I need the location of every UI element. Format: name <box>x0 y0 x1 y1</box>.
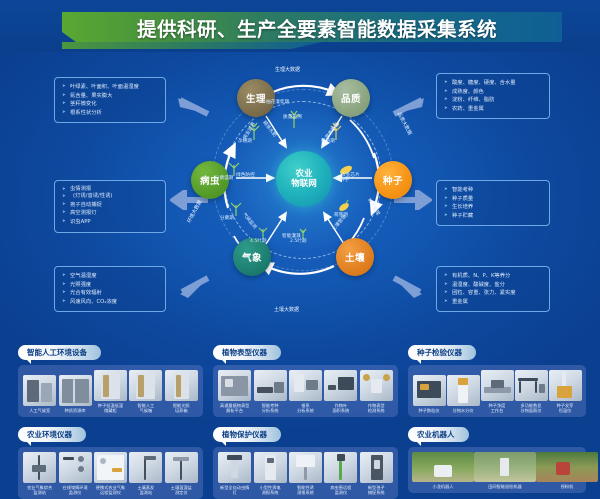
arc-label-green-control: 绿色防控 <box>236 172 255 178</box>
product-caption: 种子数粒仪 <box>413 408 446 413</box>
product-caption: 人工气候室 <box>23 408 56 413</box>
section-title: 植物表型仪器 <box>213 345 281 360</box>
product-thumbnail <box>536 452 598 482</box>
product-grid: 高通量植物表型 解析平台 智能考种 分析系统 根系 分析系统 作物叶 面积系统 … <box>213 365 398 417</box>
product-thumbnail <box>254 370 287 401</box>
list-item: 淀粉、纤维、脂肪 <box>444 96 543 105</box>
list-item: 温湿度、酸碱度、盐分 <box>444 281 543 290</box>
product-thumbnail <box>23 375 56 406</box>
list-item: 种子贮藏 <box>444 212 543 221</box>
product-item[interactable]: 农业气象综合 监测站 <box>23 452 56 495</box>
list-item: 孢子自动捕捉 <box>62 201 159 210</box>
product-item[interactable]: 病虫害远程 监测仪 <box>324 452 357 495</box>
poster-root: 提供科研、生产全要素智能数据采集系统 叶绿素、叶面积、叶面温湿度 氮含量、果实膨… <box>0 0 600 497</box>
core-node-agri-iot[interactable]: 农业 物联网 <box>276 151 332 207</box>
product-item[interactable]: 小龙机器人 <box>412 452 474 489</box>
product-thumbnail <box>129 370 162 401</box>
info-box-seed: 智能考种 种子质量 生长培养 种子贮藏 <box>436 180 550 226</box>
header: 提供科研、生产全要素智能数据采集系统 <box>0 0 600 52</box>
rice-plant-icon <box>228 198 244 216</box>
product-grid: 种子数粒仪 谷物水分仪 种子净度 工作台 多功能数显 谷物面筋仪 种子发芽 恒温… <box>408 365 586 417</box>
core-label-line1: 农业 <box>295 169 312 179</box>
product-caption: 病虫害远程 监测仪 <box>324 485 357 495</box>
product-caption: 智能人工 气候箱 <box>129 403 162 413</box>
list-item: 智能考种 <box>444 186 543 195</box>
list-item: 重金属 <box>444 298 543 307</box>
list-item: 生长培养 <box>444 203 543 212</box>
section-title: 智能人工环境设备 <box>18 345 101 360</box>
product-thumbnail <box>165 452 198 483</box>
product-item[interactable]: 多功能数显 谷物面筋仪 <box>515 370 548 413</box>
product-item[interactable]: 人工气候室 <box>23 375 56 413</box>
product-grid: 小龙机器人 田间智能巡检机器 授粉机 <box>408 447 586 493</box>
product-caption: 智能考种 分析系统 <box>254 403 287 413</box>
list-item: 风速风向、CO₂浓度 <box>62 298 159 307</box>
product-caption: 多功能数显 谷物面筋仪 <box>515 403 548 413</box>
product-thumbnail <box>218 452 251 483</box>
product-item[interactable]: 智能人工 气候箱 <box>129 370 162 413</box>
product-item[interactable]: 智能性诱 测报系统 <box>289 452 322 495</box>
product-item[interactable]: 智能光照 培养箱 <box>165 370 198 413</box>
product-caption: 土壤蒸发 监测站 <box>129 485 162 495</box>
product-thumbnail <box>59 452 92 483</box>
section-title: 农业机器人 <box>408 427 469 442</box>
flow-label-bottom: 土壤大数据 <box>274 306 299 313</box>
product-thumbnail <box>360 452 393 483</box>
sprout-icon <box>336 198 352 214</box>
product-caption: 智能光照 培养箱 <box>165 403 198 413</box>
stage-label-heading: 抽花灌浆期 <box>266 100 289 106</box>
product-item[interactable]: 便携式农业气象 远程监测仪 <box>94 452 127 495</box>
product-caption: 智能性诱 测报系统 <box>289 485 322 495</box>
product-item[interactable]: 土壤蒸发 监测站 <box>129 452 162 495</box>
flow-label-top: 生理大数据 <box>275 66 300 73</box>
product-item[interactable]: 田间智能巡检机器 <box>474 452 536 489</box>
info-box-pest: 虫情测报 (灯诱/音诱/性诱) 孢子自动捕捉 高空测报灯 识虫APP <box>54 180 166 233</box>
product-item[interactable]: 土壤温湿盐 测定仪 <box>165 452 198 495</box>
product-thumbnail <box>413 375 446 406</box>
product-item[interactable]: 种子净度 工作台 <box>481 370 514 413</box>
list-item: 空气温湿度 <box>62 272 159 281</box>
product-item[interactable]: 在线墒情环境 监测仪 <box>59 452 92 495</box>
product-caption: 种子净度 工作台 <box>481 403 514 413</box>
info-box-physiology: 叶绿素、叶面积、叶面温湿度 氮含量、果实膨大 茎秆微变化 根系性状分析 <box>54 77 166 123</box>
product-caption: 小型性诱电 测报系统 <box>254 485 287 495</box>
product-thumbnail <box>360 370 393 401</box>
stage-label-peak-till: 分蘖盛期 <box>215 176 233 182</box>
product-item[interactable]: 授粉机 <box>536 452 598 489</box>
product-item[interactable]: 种子数粒仪 <box>413 375 446 413</box>
center-diagram: 农业 物联网 生理 品质 种子 土壤 气象 病虫 生理大数据 土壤大数据 环境大… <box>178 58 428 328</box>
product-caption: 新型全自动虫情灯 <box>218 485 251 495</box>
stage-label-germination: 萌芽期 <box>334 213 348 219</box>
product-item[interactable]: 新型孢子 捕捉系统 <box>360 452 393 495</box>
product-thumbnail <box>481 370 514 401</box>
list-item: 识虫APP <box>62 218 159 227</box>
product-caption: 新型孢子 捕捉系统 <box>360 485 393 495</box>
product-thumbnail <box>129 452 162 483</box>
product-caption: 根系 分析系统 <box>289 403 322 413</box>
section-agricultural-robots: 农业机器人 小龙机器人 田间智能巡检机器 授粉机 <box>408 422 586 493</box>
product-item[interactable]: 种子发芽 恒温仪 <box>549 370 582 413</box>
product-thumbnail <box>549 370 582 401</box>
list-item: 高空测报灯 <box>62 209 159 218</box>
list-item: 根系性状分析 <box>62 109 159 118</box>
product-item[interactable]: 新型全自动虫情灯 <box>218 452 251 495</box>
product-caption: 种子发芽 恒温仪 <box>549 403 582 413</box>
product-caption: 小龙机器人 <box>412 484 474 489</box>
product-item[interactable]: 作物叶 面积系统 <box>324 370 357 413</box>
product-caption: 谷物水分仪 <box>447 408 480 413</box>
product-caption: 授粉机 <box>536 484 598 489</box>
product-thumbnail <box>94 370 127 401</box>
product-thumbnail <box>515 370 548 401</box>
product-item[interactable]: 谷物水分仪 <box>447 375 480 413</box>
list-item: 团粒、容重、张力、紧实度 <box>444 289 543 298</box>
node-quality[interactable]: 品质 <box>332 79 370 117</box>
list-item-sub: (灯诱/音诱/性诱) <box>62 193 159 200</box>
section-title: 种子检验仪器 <box>408 345 476 360</box>
product-item[interactable]: 根系 分析系统 <box>289 370 322 413</box>
node-soil[interactable]: 土壤 <box>336 238 374 276</box>
product-thumbnail <box>218 370 251 401</box>
stage-label-wax-ripe: 蜡熟期 <box>321 139 335 145</box>
section-agricultural-environment-instruments: 农业环境仪器 农业气象综合 监测站 在线墒情环境 监测仪 便携式农业气象 远程监… <box>18 422 203 499</box>
product-thumbnail <box>165 370 198 401</box>
node-physiology[interactable]: 生理 <box>237 79 275 117</box>
info-box-soil: 有机质、N、P、K等养分 温湿度、酸碱度、盐分 团粒、容重、张力、紧实度 重金属 <box>436 266 550 312</box>
product-thumbnail <box>324 452 357 483</box>
rice-plant-icon <box>256 223 270 239</box>
list-item: 氮含量、果实膨大 <box>62 92 159 101</box>
section-seed-inspection-instruments: 种子检验仪器 种子数粒仪 谷物水分仪 种子净度 工作台 多功能数显 谷物面筋仪 … <box>408 340 586 417</box>
section-title: 农业环境仪器 <box>18 427 86 442</box>
product-thumbnail <box>59 375 92 406</box>
product-item[interactable]: 种质资源库 <box>59 375 92 413</box>
product-caption: 在线墒情环境 监测仪 <box>59 485 92 495</box>
product-caption: 种子低温低湿 储藏柜 <box>94 403 127 413</box>
product-caption: 便携式农业气象 远程监测仪 <box>94 485 127 495</box>
page-title: 提供科研、生产全要素智能数据采集系统 <box>62 10 572 44</box>
product-thumbnail <box>474 452 536 482</box>
product-item[interactable]: 种子低温低湿 储藏柜 <box>94 370 127 413</box>
product-thumbnail <box>289 370 322 401</box>
product-caption: 农业气象综合 监测站 <box>23 485 56 495</box>
arc-label-quality-trace: 质量追溯 <box>283 114 302 120</box>
list-item: 种子质量 <box>444 195 543 204</box>
product-caption: 作物表型 检测系统 <box>360 403 393 413</box>
list-item: 农药、重金属 <box>444 105 543 114</box>
product-thumbnail <box>254 452 287 483</box>
node-seed[interactable]: 种子 <box>374 161 412 199</box>
product-grid: 人工气候室 种质资源库 种子低温低湿 储藏柜 智能人工 气候箱 智能光照 培养箱 <box>18 365 203 417</box>
section-smart-environment-equipment: 智能人工环境设备 人工气候室 种质资源库 种子低温低湿 储藏柜 智能人工 气候箱… <box>18 340 203 417</box>
product-caption: 作物叶 面积系统 <box>324 403 357 413</box>
stage-label-leaf25: 2.5叶期 <box>290 239 307 245</box>
list-item: 叶绿素、叶面积、叶面温湿度 <box>62 83 159 92</box>
product-item[interactable]: 高通量植物表型 解析平台 <box>218 370 251 413</box>
list-item: 酸度、糖度、硬度、含水量 <box>444 79 543 88</box>
product-caption: 田间智能巡检机器 <box>474 484 536 489</box>
section-title: 植物保护仪器 <box>213 427 281 442</box>
product-grid: 新型全自动虫情灯 小型性诱电 测报系统 智能性诱 测报系统 病虫害远程 监测仪 … <box>213 447 398 499</box>
product-item[interactable]: 智能考种 分析系统 <box>254 370 287 413</box>
info-box-weather: 空气温湿度 光照强度 光合有效辐射 风速风向、CO₂浓度 <box>54 266 166 312</box>
section-plant-protection-instruments: 植物保护仪器 新型全自动虫情灯 小型性诱电 测报系统 智能性诱 测报系统 病虫害… <box>213 422 398 499</box>
product-caption: 高通量植物表型 解析平台 <box>218 403 251 413</box>
stage-label-seed: 种子 <box>340 178 349 184</box>
product-thumbnail <box>447 375 480 406</box>
stage-label-leaf45: 4.5叶期 <box>250 239 267 245</box>
list-item: 茎秆微变化 <box>62 100 159 109</box>
section-plant-phenotype-instruments: 植物表型仪器 高通量植物表型 解析平台 智能考种 分析系统 根系 分析系统 作物… <box>213 340 398 417</box>
product-caption: 土壤温湿盐 测定仪 <box>165 485 198 495</box>
product-grid: 农业气象综合 监测站 在线墒情环境 监测仪 便携式农业气象 远程监测仪 土壤蒸发… <box>18 447 203 499</box>
product-caption: 种质资源库 <box>59 408 92 413</box>
stage-label-tillering: 分蘖期 <box>220 216 234 222</box>
product-thumbnail <box>412 452 474 482</box>
product-item[interactable]: 作物表型 检测系统 <box>360 370 393 413</box>
list-item: 光合有效辐射 <box>62 289 159 298</box>
product-thumbnail <box>324 370 357 401</box>
product-thumbnail <box>23 452 56 483</box>
stage-label-booting: 孕穗期 <box>238 139 252 145</box>
product-thumbnail <box>94 452 127 483</box>
product-thumbnail <box>289 452 322 483</box>
product-item[interactable]: 小型性诱电 测报系统 <box>254 452 287 495</box>
core-label-line2: 物联网 <box>291 179 317 189</box>
info-box-quality: 酸度、糖度、硬度、含水量 成熟度、颜色 淀粉、纤维、脂肪 农药、重金属 <box>436 73 550 119</box>
list-item: 成熟度、颜色 <box>444 88 543 97</box>
list-item: 有机质、N、P、K等养分 <box>444 272 543 281</box>
list-item: 光照强度 <box>62 281 159 290</box>
